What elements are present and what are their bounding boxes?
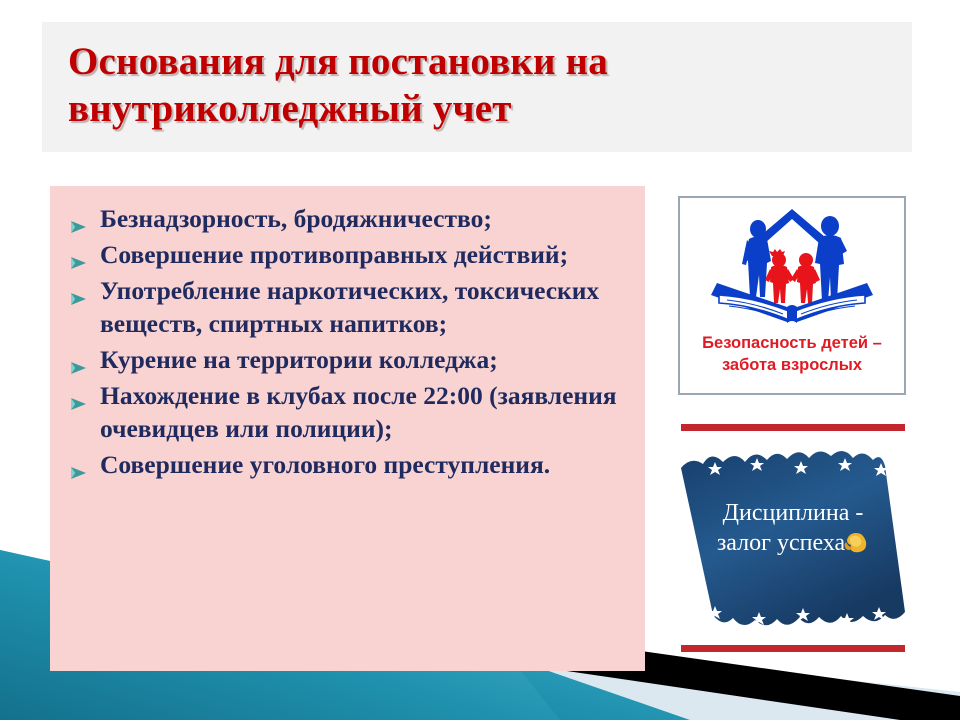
card-top-bar xyxy=(681,424,905,431)
content-panel: Безнадзорность, бродяжничество; Совершен… xyxy=(50,186,645,671)
arrow-bullet-icon xyxy=(70,210,88,226)
list-item: Нахождение в клубах после 22:00 (заявлен… xyxy=(68,379,635,445)
list-item-label: Безнадзорность, бродяжничество; xyxy=(100,204,492,233)
page-title: Основания для постановки на внутриколлед… xyxy=(68,38,848,132)
flexed-biceps-icon xyxy=(843,528,869,562)
safety-poster-image: Безопасность детей – забота взрослых xyxy=(678,196,906,395)
discipline-card-image: Дисциплина - залог успеха xyxy=(678,424,908,652)
list-item: Употребление наркотических, токсических … xyxy=(68,274,635,340)
arrow-bullet-icon xyxy=(70,282,88,298)
list-item: Курение на территории колледжа; xyxy=(68,343,635,376)
list-item-label: Употребление наркотических, токсических … xyxy=(100,276,599,338)
list-item: Безнадзорность, бродяжничество; xyxy=(68,202,635,235)
list-item-label: Курение на территории колледжа; xyxy=(100,345,498,374)
poster-caption: Безопасность детей – забота взрослых xyxy=(680,332,904,376)
arrow-bullet-icon xyxy=(70,456,88,472)
reasons-list: Безнадзорность, бродяжничество; Совершен… xyxy=(50,186,645,481)
list-item: Совершение уголовного преступления. xyxy=(68,448,635,481)
discipline-line1: Дисциплина - xyxy=(723,500,864,526)
family-over-book-icon xyxy=(699,203,885,328)
arrow-bullet-icon xyxy=(70,387,88,403)
discipline-card-text: Дисциплина - залог успеха xyxy=(681,498,905,562)
card-bottom-bar xyxy=(681,645,905,652)
poster-caption-line2: забота взрослых xyxy=(722,356,862,374)
title-band: Основания для постановки на внутриколлед… xyxy=(42,22,912,152)
arrow-bullet-icon xyxy=(70,351,88,367)
poster-caption-line1: Безопасность детей – xyxy=(702,334,882,352)
list-item: Совершение противоправных действий; xyxy=(68,238,635,271)
list-item-label: Нахождение в клубах после 22:00 (заявлен… xyxy=(100,381,617,443)
list-item-label: Совершение уголовного преступления. xyxy=(100,450,550,479)
arrow-bullet-icon xyxy=(70,246,88,262)
card-body: Дисциплина - залог успеха xyxy=(681,442,905,634)
discipline-line2: залог успеха xyxy=(717,530,845,556)
list-item-label: Совершение противоправных действий; xyxy=(100,240,568,269)
